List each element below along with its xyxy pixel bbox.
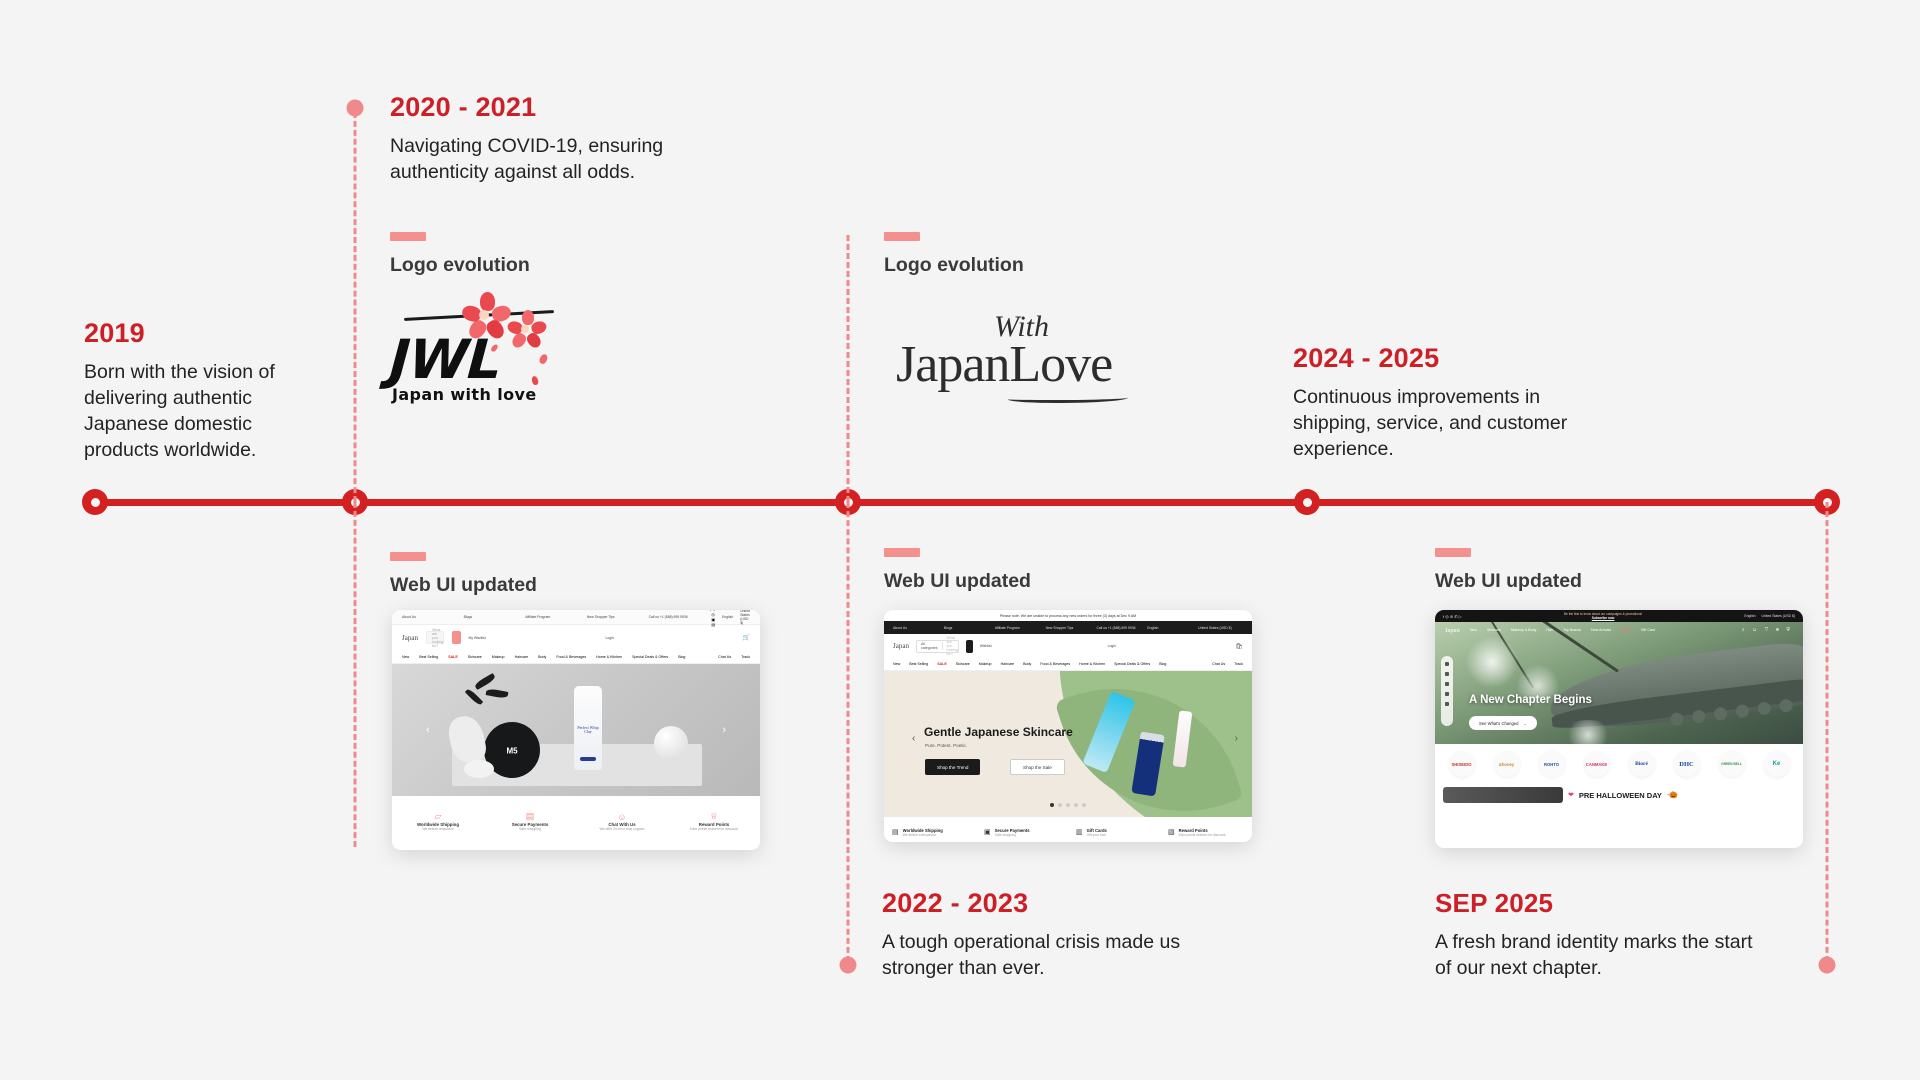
payment-icon: ▤ — [484, 811, 576, 822]
cherry-blossom-cluster — [1561, 720, 1615, 744]
product-label: Perfect Whip Clay — [577, 726, 599, 735]
header-action-icons[interactable]: ⌕ ☺ ♡ ⊕ ⛨ — [1742, 627, 1793, 633]
nav-track[interactable]: Track — [741, 655, 750, 659]
wishlist-link[interactable]: Wishlist — [980, 644, 1101, 648]
nav-item[interactable]: Special Deals & Offers — [1114, 662, 1150, 666]
card3-nav: Japan New Skincare Makeup & Body Hair To… — [1435, 622, 1803, 638]
shipping-icon: ▱ — [392, 811, 484, 822]
search-placeholder: What are you looking for? — [432, 628, 443, 648]
topbar-link[interactable]: New Shopper Tips — [587, 615, 642, 619]
hero-primary-button[interactable]: Shop the Trend — [925, 759, 980, 775]
chat-icon: ☺ — [576, 812, 668, 822]
milestone-2019-description: Born with the vision of delivering authe… — [84, 360, 324, 464]
feature-title: Gift Cards — [1087, 828, 1107, 833]
topbar-link[interactable]: Affiliate Program — [995, 626, 1040, 630]
screenshot-card-2020[interactable]: About Us Blogs Affiliate Program New Sho… — [392, 610, 760, 850]
social-icons[interactable]: f ◎ ⊛ ✆ ▷ — [1443, 614, 1462, 619]
topbar-link[interactable]: Affiliate Program — [525, 615, 580, 619]
language-select[interactable]: English — [722, 615, 733, 619]
connector-2022-down — [847, 502, 850, 962]
facebook-icon — [1445, 662, 1449, 666]
milestone-2020-2021-year: 2020 - 2021 — [390, 92, 720, 123]
feature-sub: We offer 24-hour chat support — [576, 827, 668, 831]
search-input[interactable]: All categories What are you looking for? — [916, 640, 959, 653]
logo-word-japan: Japan — [896, 336, 1009, 393]
card3-announcement-bar: f ◎ ⊛ ✆ ▷ Be the first to know about our… — [1435, 610, 1803, 622]
feature-sub: Safe shopping — [995, 833, 1030, 837]
timeline-infographic: 2019 Born with the vision of delivering … — [0, 0, 1920, 1080]
hero-subtitle: Pure. Potent. Poetic. — [925, 743, 967, 748]
accent-bar — [884, 548, 920, 557]
payment-icon: ▣ — [984, 828, 991, 836]
search-placeholder: What are you looking for? — [943, 636, 958, 656]
nav-track[interactable]: Track — [1234, 662, 1243, 666]
logo-new-japan-with-love: With JapanLove — [896, 310, 1146, 406]
search-icon[interactable] — [452, 631, 460, 644]
cart-icon[interactable]: 🛒 — [743, 634, 750, 641]
milestone-sep-2025: SEP 2025 A fresh brand identity marks th… — [1435, 888, 1765, 982]
topbar-link[interactable]: About Us — [893, 626, 938, 630]
caption-web-ui-2: Web UI updated — [884, 548, 1031, 593]
hero-secondary-button[interactable]: Shop the Sale — [1010, 759, 1065, 775]
currency-select[interactable]: United States (USD $) — [1761, 614, 1795, 618]
card2-nav: New Best Selling SALE Skincare Makeup Ha… — [884, 658, 1252, 671]
nav-chat[interactable]: Chat Us — [1212, 662, 1225, 666]
milestone-2022-2023: 2022 - 2023 A tough operational crisis m… — [882, 888, 1212, 982]
nav-item[interactable]: Top Brands — [1563, 628, 1581, 632]
site-logo[interactable]: Japan — [893, 642, 909, 650]
reward-icon: ▧ — [1168, 828, 1175, 836]
milestone-2019-year: 2019 — [84, 318, 324, 349]
milestone-sep-2025-description: A fresh brand identity marks the start o… — [1435, 930, 1765, 982]
topbar-link[interactable]: New Shopper Tips — [1046, 626, 1091, 630]
logo-old-jwl: JWL Japan with love — [382, 292, 582, 410]
nav-item[interactable]: Best Selling — [909, 662, 928, 666]
nav-item-sale[interactable]: SALE — [1621, 628, 1631, 632]
nav-item[interactable]: Body — [538, 655, 546, 659]
cherry-blossom-icon — [506, 310, 550, 354]
nav-item[interactable]: New — [1470, 628, 1477, 632]
feature-item: ▥ Gift Cards Gift your love — [1068, 828, 1160, 837]
card3-hero: Japan New Skincare Makeup & Body Hair To… — [1435, 622, 1803, 744]
milestone-2019: 2019 Born with the vision of delivering … — [84, 318, 324, 464]
card3-promo-row: ❤ PRE HALLOWEEN DAY -🎃 — [1435, 784, 1803, 806]
caption-web-ui-1: Web UI updated — [390, 552, 537, 597]
card1-features: ▱ Worldwide Shipping We deliver anywhere… — [392, 796, 760, 846]
feature-item: ▤ Secure Payments Safe shopping — [484, 811, 576, 831]
falling-petal — [538, 353, 549, 365]
nav-item[interactable]: Gift Card — [1641, 628, 1655, 632]
social-side-rail[interactable] — [1441, 656, 1453, 726]
nav-item[interactable]: Food & Beverages — [556, 655, 586, 659]
nav-item[interactable]: New — [893, 662, 900, 666]
giftcard-icon: ▥ — [1076, 828, 1083, 836]
nav-item[interactable]: Hair — [1546, 628, 1553, 632]
nav-item[interactable]: Blog — [678, 655, 685, 659]
product-code: M5 — [506, 747, 517, 756]
nav-item[interactable]: Special Deals & Offers — [632, 655, 668, 659]
card2-hero: Gentle Japanese Skincare Pure. Potent. P… — [884, 671, 1252, 817]
instagram-icon — [1445, 672, 1449, 676]
nav-item[interactable]: Skincare — [1487, 628, 1501, 632]
site-logo[interactable]: Japan — [402, 634, 418, 642]
brand-logo[interactable]: &honey — [1494, 751, 1520, 777]
product-tube: Perfect Whip Clay — [574, 686, 602, 770]
topbar-phone: Call us +1 (888) 699 5936 — [1096, 626, 1141, 630]
endpoint-dot-2022-bottom — [840, 957, 857, 974]
milestone-2020-2021: 2020 - 2021 Navigating COVID-19, ensurin… — [390, 92, 720, 186]
promo-label: PRE HALLOWEEN DAY — [1579, 791, 1662, 800]
nav-item[interactable]: Home & Kitchen — [1079, 662, 1105, 666]
announcement-cta[interactable]: Subscribe now — [1564, 616, 1642, 620]
connector-2022-up — [847, 235, 850, 502]
milestone-2024-2025-year: 2024 - 2025 — [1293, 343, 1593, 374]
logo-swash — [1008, 394, 1128, 403]
nav-chat[interactable]: Chat Us — [718, 655, 731, 659]
brand-logo[interactable]: GREEN BELL — [1719, 751, 1745, 777]
card2-header: Japan All categories What are you lookin… — [884, 634, 1252, 658]
category-select[interactable]: All categories — [917, 642, 943, 650]
brand-logo[interactable]: CANMAKE — [1584, 751, 1610, 777]
phone-icon — [1445, 692, 1449, 696]
feature-item: ♕ Reward Points Earn points redeem for d… — [668, 811, 760, 831]
halloween-icon: ❤ — [1568, 791, 1574, 799]
carousel-prev-icon[interactable]: ‹ — [426, 724, 430, 736]
nav-item[interactable]: Best Selling — [419, 655, 438, 659]
mail-icon — [1445, 702, 1449, 706]
feature-sub: Safe shopping — [484, 827, 576, 831]
feature-sub: Earn points redeem for discount — [668, 827, 760, 831]
feature-item: ▣ Secure Payments Safe shopping — [976, 828, 1068, 837]
milestone-2024-2025: 2024 - 2025 Continuous improvements in s… — [1293, 343, 1593, 463]
currency-select[interactable]: United States (USD $) — [1198, 626, 1243, 630]
caption-label: Logo evolution — [884, 254, 1024, 277]
wishlist-link[interactable]: My Wishlist — [469, 636, 598, 640]
card1-header: Japan What are you looking for? My Wishl… — [392, 625, 760, 650]
milestone-2024-2025-description: Continuous improvements in shipping, ser… — [1293, 385, 1593, 463]
milestone-2020-2021-description: Navigating COVID-19, ensuring authentici… — [390, 134, 720, 186]
search-icon[interactable] — [966, 640, 973, 653]
carousel-next-icon[interactable]: › — [722, 724, 726, 736]
milestone-2022-2023-year: 2022 - 2023 — [882, 888, 1212, 919]
caption-logo-evolution-2: Logo evolution — [884, 232, 1024, 277]
witch-icon: -🎃 — [1667, 791, 1678, 799]
feature-title: Worldwide Shipping — [903, 828, 943, 833]
brand-logo[interactable]: SHISEIDO — [1449, 751, 1475, 777]
reward-icon: ♕ — [668, 811, 760, 822]
card3-brand-strip: SHISEIDO &honey ROHTO CANMAKE Bioré DHC … — [1435, 744, 1803, 784]
connector-2020-up — [354, 112, 357, 502]
feature-item: ▧ Reward Points Earn points redeem for d… — [1160, 828, 1252, 837]
card2-notice: Please note: We are unable to process an… — [884, 610, 1252, 621]
topbar-phone: Call us +1 (888) 699 5936 — [649, 615, 704, 619]
feature-sub: Earn points redeem for discount — [1179, 833, 1226, 837]
nav-item[interactable]: Skincare — [468, 655, 482, 659]
connector-2020-down — [354, 502, 357, 847]
nav-item[interactable]: Makeup — [492, 655, 505, 659]
feature-sub: We deliver anywhere — [392, 827, 484, 831]
carousel-dots[interactable] — [1050, 803, 1086, 807]
caption-logo-evolution-1: Logo evolution — [390, 232, 530, 277]
endpoint-dot-sep-bottom — [1819, 957, 1836, 974]
nav-item-sale[interactable]: SALE — [448, 655, 458, 659]
notice-text: Please note: We are unable to process an… — [1000, 614, 1136, 618]
accent-bar — [390, 232, 426, 241]
login-link[interactable]: Login — [1108, 644, 1229, 648]
nav-item[interactable]: New Arrivals — [1591, 628, 1611, 632]
nav-item[interactable]: Body — [1023, 662, 1031, 666]
card1-nav: New Best Selling SALE Skincare Makeup Ha… — [392, 650, 760, 664]
nav-item[interactable]: Haircare — [1001, 662, 1015, 666]
feature-item: ▤ Worldwide Shipping We deliver everywhe… — [884, 828, 976, 837]
nav-item[interactable]: Haircare — [515, 655, 529, 659]
brand-logo[interactable]: ROHTO — [1539, 751, 1565, 777]
shipping-icon: ▤ — [892, 828, 899, 836]
feature-item: ☺ Chat With Us We offer 24-hour chat sup… — [576, 812, 668, 831]
cart-icon[interactable]: 🛍 — [1235, 643, 1243, 650]
social-icons[interactable]: f t ◎ ▣ ▤ — [710, 610, 715, 627]
brand-logo[interactable]: Ke — [1764, 751, 1790, 777]
milestone-2022-2023-description: A tough operational crisis made us stron… — [882, 930, 1212, 982]
endpoint-dot-2020-top — [347, 100, 364, 117]
card1-topbar: About Us Blogs Affiliate Program New Sho… — [392, 610, 760, 625]
topbar-link[interactable]: About Us — [402, 615, 457, 619]
language-select[interactable]: English — [1147, 626, 1192, 630]
timeline-node-2024-2025[interactable] — [1294, 489, 1320, 515]
card1-product-row — [392, 846, 760, 850]
hero-cta-button[interactable]: See What's Changed→ — [1469, 716, 1537, 730]
carousel-next-icon[interactable]: › — [1235, 733, 1238, 744]
logo-letters: JWL — [388, 328, 503, 391]
card2-topbar: About Us Blogs Affiliate Program New Sho… — [884, 621, 1252, 634]
feature-title: Secure Payments — [995, 828, 1030, 833]
hero-title: Gentle Japanese Skincare — [924, 725, 1073, 739]
login-link[interactable]: Login — [606, 636, 735, 640]
nav-item[interactable]: Food & Beverages — [1040, 662, 1070, 666]
hero-cta-label: See What's Changed — [1479, 721, 1518, 726]
connector-sep-down — [1826, 502, 1829, 962]
site-logo[interactable]: Japan — [1445, 627, 1460, 634]
nav-item[interactable]: Makeup — [979, 662, 992, 666]
caption-label: Logo evolution — [390, 254, 530, 277]
timeline-node-2019[interactable] — [82, 489, 108, 515]
nav-item[interactable]: Makeup & Body — [1511, 628, 1536, 632]
caption-label: Web UI updated — [390, 574, 537, 597]
accent-bar — [884, 232, 920, 241]
card2-features: ▤ Worldwide Shipping We deliver everywhe… — [884, 817, 1252, 842]
caption-label: Web UI updated — [1435, 570, 1582, 593]
caption-label: Web UI updated — [884, 570, 1031, 593]
caption-web-ui-3: Web UI updated — [1435, 548, 1582, 593]
language-select[interactable]: English — [1744, 614, 1755, 618]
nav-item-sale[interactable]: SALE — [937, 662, 947, 666]
accent-bar — [390, 552, 426, 561]
carousel-prev-icon[interactable]: ‹ — [912, 733, 915, 744]
topbar-link[interactable]: Blogs — [944, 626, 989, 630]
feature-item: ▱ Worldwide Shipping We deliver anywhere — [392, 811, 484, 831]
nav-item[interactable]: Home & Kitchen — [596, 655, 622, 659]
accent-bar — [1435, 548, 1471, 557]
brand-logo[interactable]: Bioré — [1629, 751, 1655, 777]
topbar-link[interactable]: Blogs — [464, 615, 519, 619]
search-input[interactable]: What are you looking for? — [426, 631, 444, 644]
card1-hero: M5 Perfect Whip Clay ‹ › — [392, 664, 760, 796]
screenshot-card-2022[interactable]: Please note: We are unable to process an… — [884, 610, 1252, 842]
milestone-sep-2025-year: SEP 2025 — [1435, 888, 1765, 919]
tiktok-icon — [1445, 682, 1449, 686]
logo-word-love: Love — [1009, 336, 1112, 393]
promo-thumbnail[interactable] — [1443, 787, 1563, 803]
hero-title: A New Chapter Begins — [1469, 694, 1592, 706]
currency-select[interactable]: United States (USD $) — [740, 610, 750, 625]
feature-sub: We deliver everywhere — [903, 833, 943, 837]
screenshot-card-sep-2025[interactable]: f ◎ ⊛ ✆ ▷ Be the first to know about our… — [1435, 610, 1803, 848]
brand-logo[interactable]: DHC — [1674, 751, 1700, 777]
nav-item[interactable]: Blog — [1159, 662, 1166, 666]
nav-item[interactable]: New — [402, 655, 409, 659]
feature-sub: Gift your love — [1087, 833, 1107, 837]
nav-item[interactable]: Skincare — [956, 662, 970, 666]
logo-tagline: Japan with love — [392, 385, 537, 404]
